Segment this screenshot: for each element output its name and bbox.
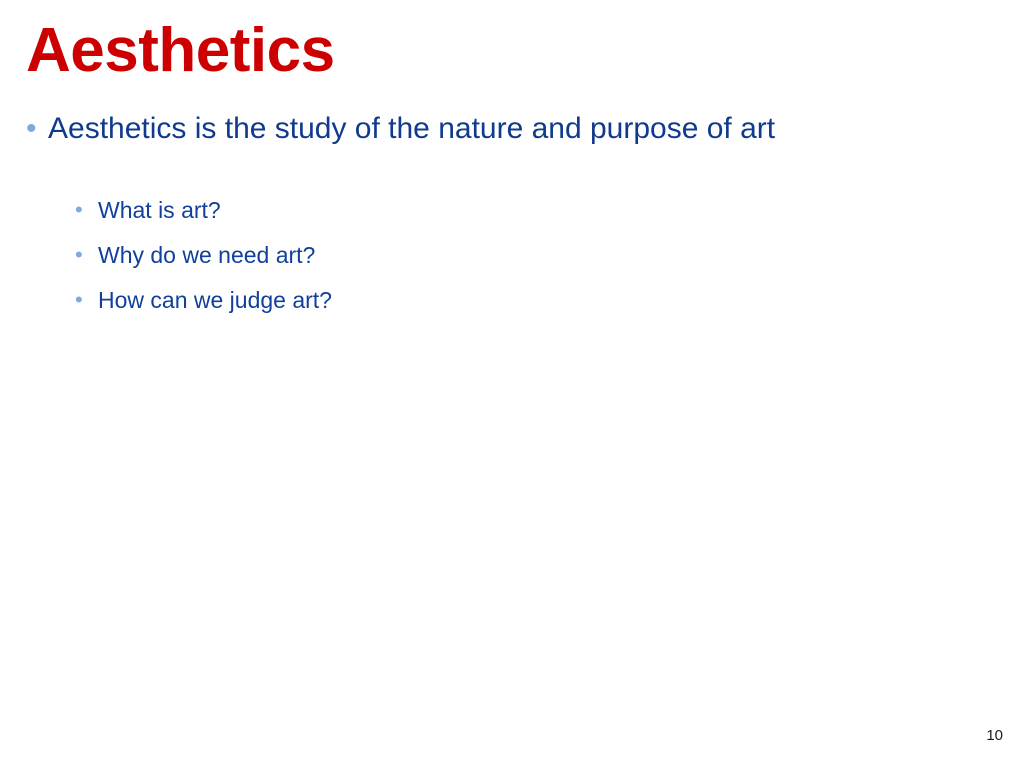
list-item: • What is art?: [75, 194, 986, 226]
sub-bullet-list: • What is art? • Why do we need art? • H…: [75, 194, 986, 316]
list-item: • Aesthetics is the study of the nature …: [26, 108, 986, 150]
list-item-label: How can we judge art?: [98, 284, 332, 316]
list-item: • How can we judge art?: [75, 284, 986, 316]
bullet-dot-icon: •: [75, 284, 98, 316]
page-number: 10: [986, 727, 1003, 745]
slide-body: • Aesthetics is the study of the nature …: [26, 108, 986, 329]
page-title: Aesthetics: [26, 18, 335, 83]
list-item: • Why do we need art?: [75, 239, 986, 271]
list-item-label: Why do we need art?: [98, 239, 315, 271]
bullet-dot-icon: •: [75, 194, 98, 226]
list-item-label: What is art?: [98, 194, 221, 226]
list-item-label: Aesthetics is the study of the nature an…: [48, 108, 775, 150]
bullet-dot-icon: •: [26, 108, 48, 150]
bullet-dot-icon: •: [75, 239, 98, 271]
slide-canvas: Aesthetics • Aesthetics is the study of …: [0, 0, 1024, 768]
